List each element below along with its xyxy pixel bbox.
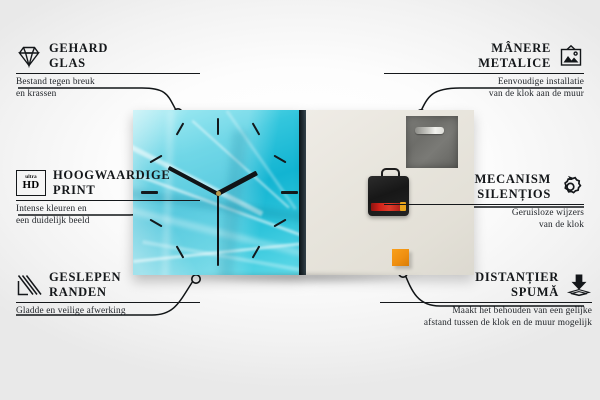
picture-frame-hanger-icon — [558, 44, 584, 68]
callout-rule — [380, 302, 592, 303]
callout-desc-line2: van de klok aan de muur — [384, 89, 584, 101]
callout-desc-line2: van de klok — [384, 220, 584, 232]
callout-rule — [16, 73, 200, 74]
clock-tick-2 — [273, 155, 286, 164]
callout-title-line1: MECANISM — [475, 172, 551, 187]
callout-desc-line1: Bestand tegen breuk — [16, 77, 216, 89]
callout-desc-line2: afstand tussen de klok en de muur mogeli… — [380, 318, 592, 330]
callout-title-line1: GESLEPEN — [49, 270, 121, 285]
clock-tick-3 — [281, 191, 298, 194]
callout-rule — [16, 302, 200, 303]
callout-rule — [384, 204, 584, 205]
gear-icon — [558, 175, 584, 199]
callout-desc-line2: en krassen — [16, 89, 216, 101]
clock-tick-11 — [176, 122, 185, 135]
ultra-hd-icon: ultra HD — [16, 170, 46, 196]
callout-distantier-spuma: DISTANȚIER SPUMĂ Maakt het behouden van … — [380, 270, 592, 329]
beveled-edge-icon — [16, 273, 42, 297]
callout-title-line2: GLAS — [49, 56, 108, 71]
callout-gehard-glas: GEHARD GLAS Bestand tegen breuk en krass… — [16, 41, 216, 100]
callout-rule — [384, 73, 584, 74]
callout-title-line2: SPUMĂ — [475, 285, 559, 300]
down-arrow-layer-icon — [566, 273, 592, 297]
callout-title-line1: GEHARD — [49, 41, 108, 56]
callout-title-line1: MÂNERE — [478, 41, 551, 56]
callout-desc-line1: Eenvoudige installatie — [384, 77, 584, 89]
callout-desc-line2: een duidelijk beeld — [16, 216, 216, 228]
metal-hanger-plate — [406, 116, 458, 168]
clock-tick-12 — [217, 118, 219, 135]
hanger-keyhole-slot — [415, 127, 444, 134]
callout-manere-metalice: MÂNERE METALICE Eenvoudige installatie v… — [384, 41, 584, 100]
callout-geslepen-randen: GESLEPEN RANDEN Gladde en veilige afwerk… — [16, 270, 216, 318]
callout-hoogwaardige-print: ultra HD HOOGWAARDIGE PRINT Intense kleu… — [16, 168, 216, 227]
diamond-icon — [16, 44, 42, 68]
clock-second-hand — [217, 194, 219, 256]
callout-title-line2: METALICE — [478, 56, 551, 71]
callout-desc-line1: Maakt het behouden van een gelijke — [380, 306, 592, 318]
callout-title-line2: SILENȚIOS — [475, 187, 551, 202]
callout-title-line2: PRINT — [53, 183, 170, 198]
callout-title-line2: RANDEN — [49, 285, 121, 300]
foam-spacer-pad — [392, 249, 409, 266]
ultra-hd-icon-large-text: HD — [22, 180, 39, 191]
callout-title-line1: DISTANȚIER — [475, 270, 559, 285]
clock-glass-edge — [299, 110, 306, 275]
callout-title-line1: HOOGWAARDIGE — [53, 168, 170, 183]
callout-mecanism-silentios: MECANISM SILENȚIOS Geruisloze wijzers va… — [384, 172, 584, 231]
clock-center-cap — [216, 191, 221, 196]
clock-tick-1 — [252, 122, 261, 135]
infographic-canvas: GEHARD GLAS Bestand tegen breuk en krass… — [0, 0, 600, 400]
callout-desc-line1: Geruisloze wijzers — [384, 208, 584, 220]
callout-rule — [16, 200, 200, 201]
callout-desc-line1: Intense kleuren en — [16, 204, 216, 216]
callout-desc-line1: Gladde en veilige afwerking — [16, 306, 216, 318]
